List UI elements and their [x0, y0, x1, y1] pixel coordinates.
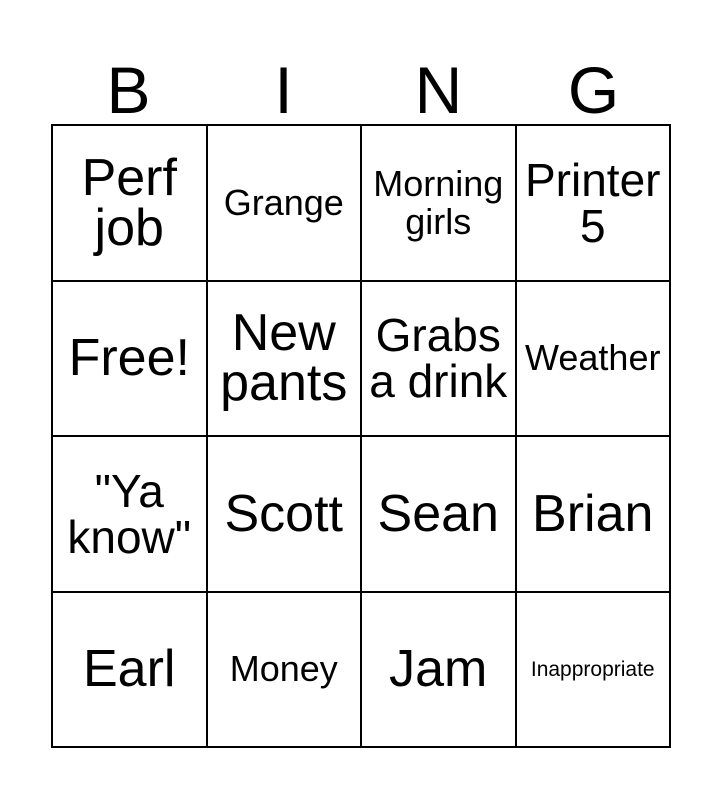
bingo-cell-label: New pants	[211, 308, 358, 408]
bingo-cell-free-space[interactable]: Free!	[53, 282, 208, 438]
bingo-cell[interactable]: Perf job	[53, 126, 208, 282]
bingo-cell[interactable]: Jam	[362, 593, 517, 749]
bingo-cell-label: Sean	[365, 489, 512, 539]
bingo-cell-label: Earl	[56, 644, 203, 694]
bingo-cell[interactable]: "Ya know"	[53, 437, 208, 593]
bingo-cell-label: Brian	[520, 489, 667, 539]
bingo-cell-label: Grabs a drink	[365, 312, 512, 404]
bingo-cell[interactable]: Sean	[362, 437, 517, 593]
bingo-cell[interactable]: Brian	[517, 437, 672, 593]
bingo-grid: Perf jobGrangeMorning girlsPrinter 5Free…	[51, 124, 671, 748]
bingo-cell-label: Scott	[211, 489, 358, 539]
bingo-cell-label: Grange	[211, 184, 358, 222]
bingo-cell-label: "Ya know"	[56, 468, 203, 560]
header-letter-b: B	[51, 44, 206, 124]
bingo-cell-label: Weather	[520, 339, 667, 377]
bingo-cell[interactable]: New pants	[208, 282, 363, 438]
header-letter-g: G	[516, 44, 671, 124]
bingo-cell-label: Perf job	[56, 153, 203, 253]
header-letter-n: N	[361, 44, 516, 124]
bingo-cell-label: Jam	[365, 644, 512, 694]
header-letter-i: I	[206, 44, 361, 124]
bingo-cell[interactable]: Inappropriate	[517, 593, 672, 749]
bingo-cell[interactable]: Weather	[517, 282, 672, 438]
bingo-cell[interactable]: Money	[208, 593, 363, 749]
bingo-cell[interactable]: Printer 5	[517, 126, 672, 282]
bingo-cell[interactable]: Scott	[208, 437, 363, 593]
bingo-card: B I N G Perf jobGrangeMorning girlsPrint…	[0, 0, 723, 800]
bingo-cell-label: Morning girls	[365, 165, 512, 241]
bingo-cell[interactable]: Morning girls	[362, 126, 517, 282]
bingo-cell[interactable]: Grabs a drink	[362, 282, 517, 438]
bingo-cell-label: Inappropriate	[520, 658, 667, 681]
bingo-cell-label: Money	[211, 650, 358, 688]
bingo-cell[interactable]: Grange	[208, 126, 363, 282]
bingo-cell-label: Printer 5	[520, 157, 667, 249]
bingo-cell-label: Free!	[56, 333, 203, 383]
bingo-cell[interactable]: Earl	[53, 593, 208, 749]
bingo-header: B I N G	[51, 44, 671, 124]
